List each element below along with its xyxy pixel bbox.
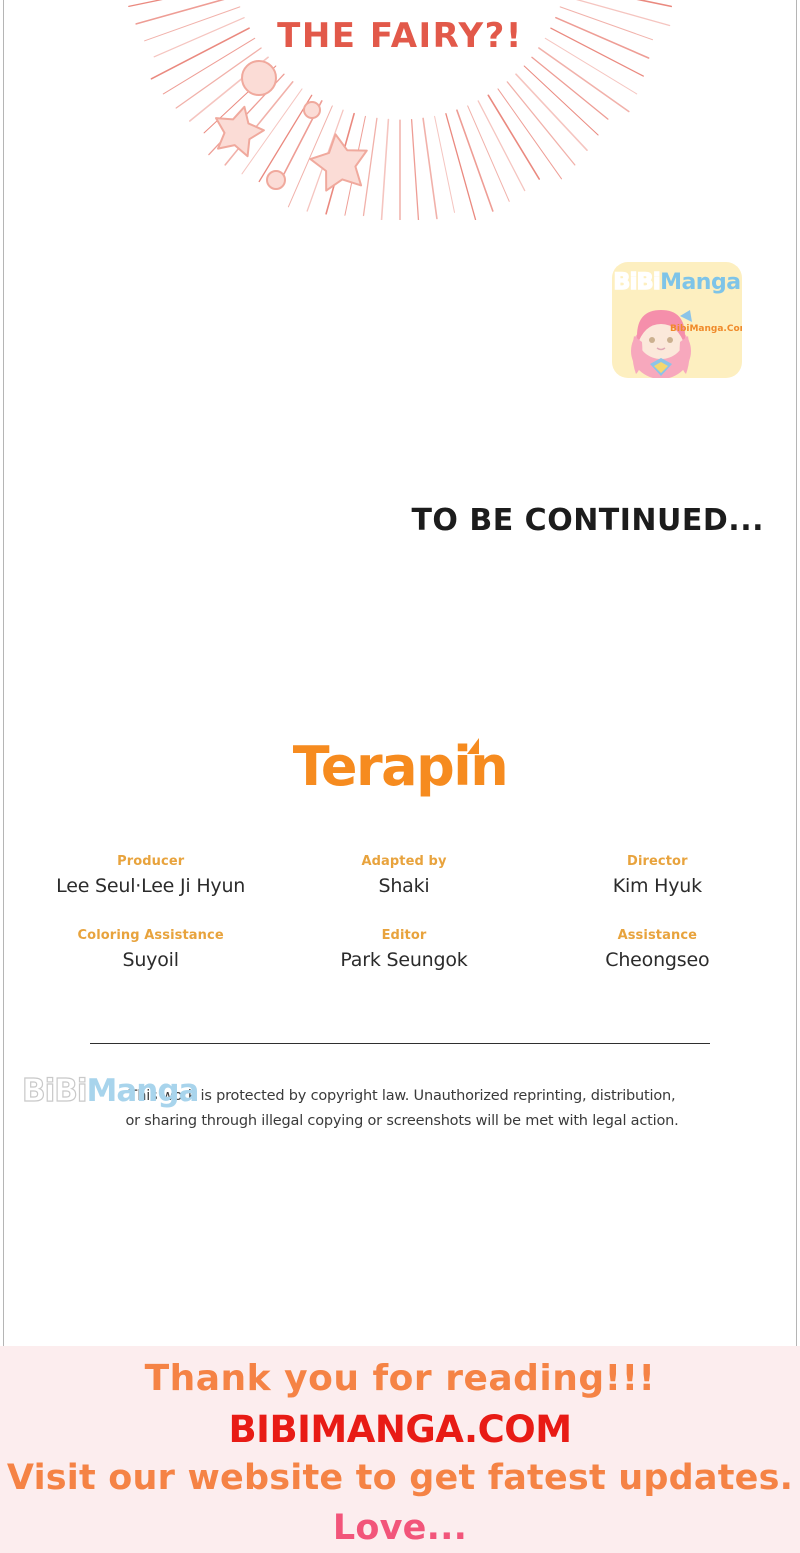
fairy-shout-text: THE FAIRY?! (4, 16, 796, 56)
credit-role-label: Producer (24, 854, 277, 869)
badge-bibi-text: BiBi (613, 270, 660, 295)
terapin-studio-logo: Terapin (4, 740, 796, 794)
credit-name-value: Lee Seul·Lee Ji Hyun (24, 875, 277, 897)
promo-banner: Thank you for reading!!! BIBIMANGA.COM V… (0, 1346, 800, 1553)
banner-love-text: Love... (0, 1508, 800, 1548)
copyright-line-1: This work is protected by copyright law.… (94, 1084, 710, 1109)
credit-entry-producer: Producer Lee Seul·Lee Ji Hyun (24, 854, 277, 897)
bibimanga-app-badge[interactable]: BiBiManga BibiManga.Com (612, 262, 742, 378)
credit-entry-director: Director Kim Hyuk (531, 854, 784, 897)
credit-role-label: Director (531, 854, 784, 869)
mascot-character-icon (624, 296, 698, 378)
credit-entry-coloring-assistance: Coloring Assistance Suyoil (24, 928, 277, 971)
to-be-continued-text: TO BE CONTINUED... (4, 503, 764, 538)
credits-block: Producer Lee Seul·Lee Ji Hyun Adapted by… (24, 854, 784, 1002)
credit-role-label: Coloring Assistance (24, 928, 277, 943)
banner-thanks-text: Thank you for reading!!! (0, 1358, 800, 1399)
badge-manga-text: Manga (660, 270, 741, 295)
comic-reader-page: THE FAIRY?! BiBiManga BibiManga.Com TO B… (0, 0, 800, 1553)
credit-entry-editor: Editor Park Seungok (277, 928, 530, 971)
banner-visit-text: Visit our website to get fatest updates. (0, 1458, 800, 1498)
banner-domain-link[interactable]: BIBIMANGA.COM (0, 1408, 800, 1451)
credit-entry-adapted-by: Adapted by Shaki (277, 854, 530, 897)
badge-url-text: BibiManga.Com (670, 324, 742, 334)
credit-name-value: Cheongseo (531, 949, 784, 971)
credit-role-label: Editor (277, 928, 530, 943)
credits-row: Producer Lee Seul·Lee Ji Hyun Adapted by… (24, 854, 784, 897)
credit-name-value: Shaki (277, 875, 530, 897)
credit-name-value: Park Seungok (277, 949, 530, 971)
page-right-border (796, 0, 797, 1346)
credits-row: Coloring Assistance Suyoil Editor Park S… (24, 928, 784, 971)
section-divider (90, 1043, 710, 1044)
credit-role-label: Adapted by (277, 854, 530, 869)
comic-panel-area: THE FAIRY?! BiBiManga BibiManga.Com TO B… (4, 0, 796, 1346)
credit-role-label: Assistance (531, 928, 784, 943)
copyright-notice: This work is protected by copyright law.… (94, 1084, 710, 1134)
watermark-bibi-text: BiBi (22, 1073, 87, 1109)
credit-entry-assistance: Assistance Cheongseo (531, 928, 784, 971)
credit-name-value: Suyoil (24, 949, 277, 971)
terapin-accent-mark (467, 738, 479, 754)
copyright-line-2: or sharing through illegal copying or sc… (94, 1109, 710, 1134)
badge-wordmark: BiBiManga (612, 270, 742, 295)
credit-name-value: Kim Hyuk (531, 875, 784, 897)
